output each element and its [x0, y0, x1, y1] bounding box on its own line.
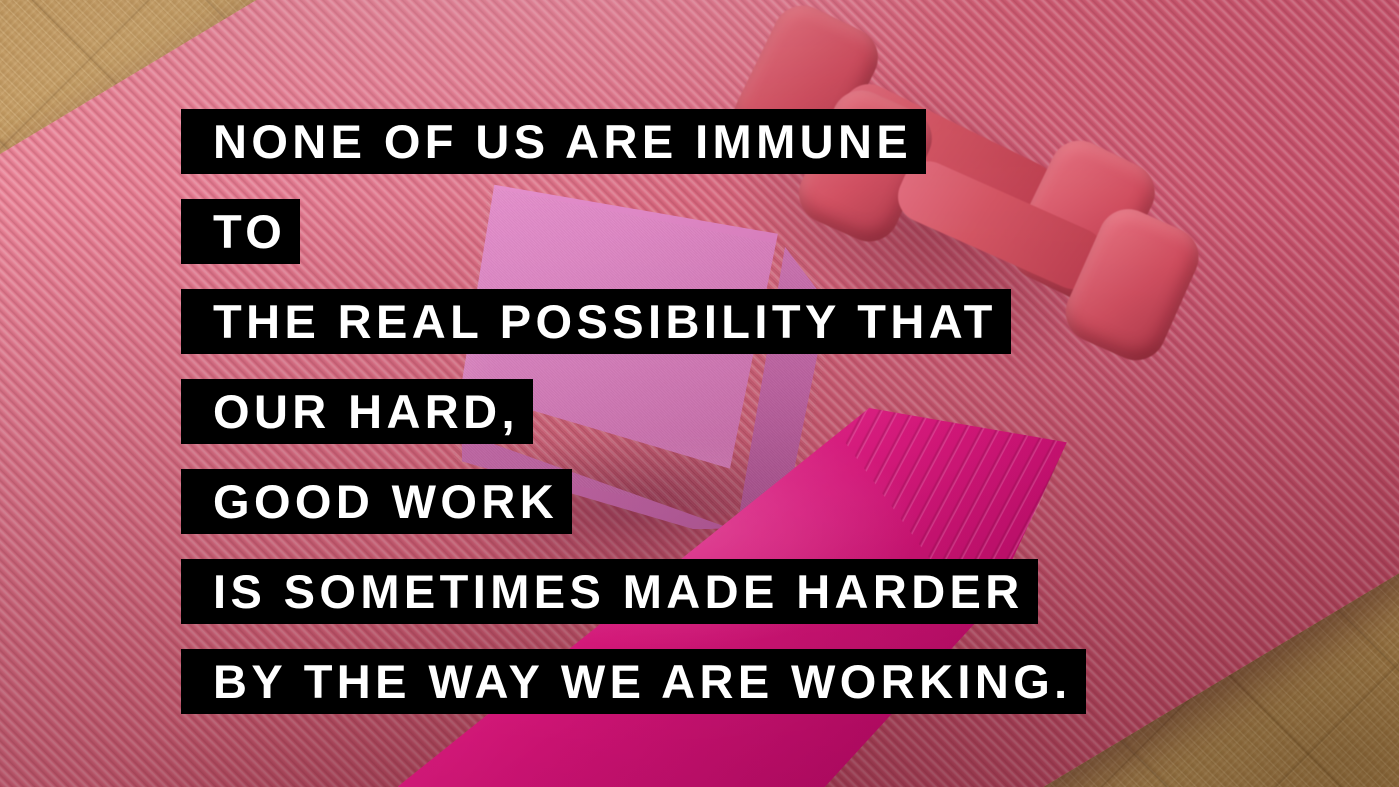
quote-line: OUR HARD,	[181, 379, 1381, 444]
quote-line-text: OUR HARD,	[181, 379, 533, 444]
quote-overlay: NONE OF US ARE IMMUNE TO THE REAL POSSIB…	[181, 109, 1381, 714]
quote-line: IS SOMETIMES MADE HARDER	[181, 559, 1381, 624]
quote-line-text: GOOD WORK	[181, 469, 572, 534]
quote-line-text: BY THE WAY WE ARE WORKING.	[181, 649, 1086, 714]
quote-line: BY THE WAY WE ARE WORKING.	[181, 649, 1381, 714]
quote-line-text: THE REAL POSSIBILITY THAT	[181, 289, 1011, 354]
quote-line: TO	[181, 199, 1381, 264]
quote-line: GOOD WORK	[181, 469, 1381, 534]
quote-line: THE REAL POSSIBILITY THAT	[181, 289, 1381, 354]
image-canvas: NONE OF US ARE IMMUNE TO THE REAL POSSIB…	[0, 0, 1399, 787]
quote-line-text: TO	[181, 199, 300, 264]
quote-line: NONE OF US ARE IMMUNE	[181, 109, 1381, 174]
quote-line-text: IS SOMETIMES MADE HARDER	[181, 559, 1038, 624]
quote-line-text: NONE OF US ARE IMMUNE	[181, 109, 926, 174]
